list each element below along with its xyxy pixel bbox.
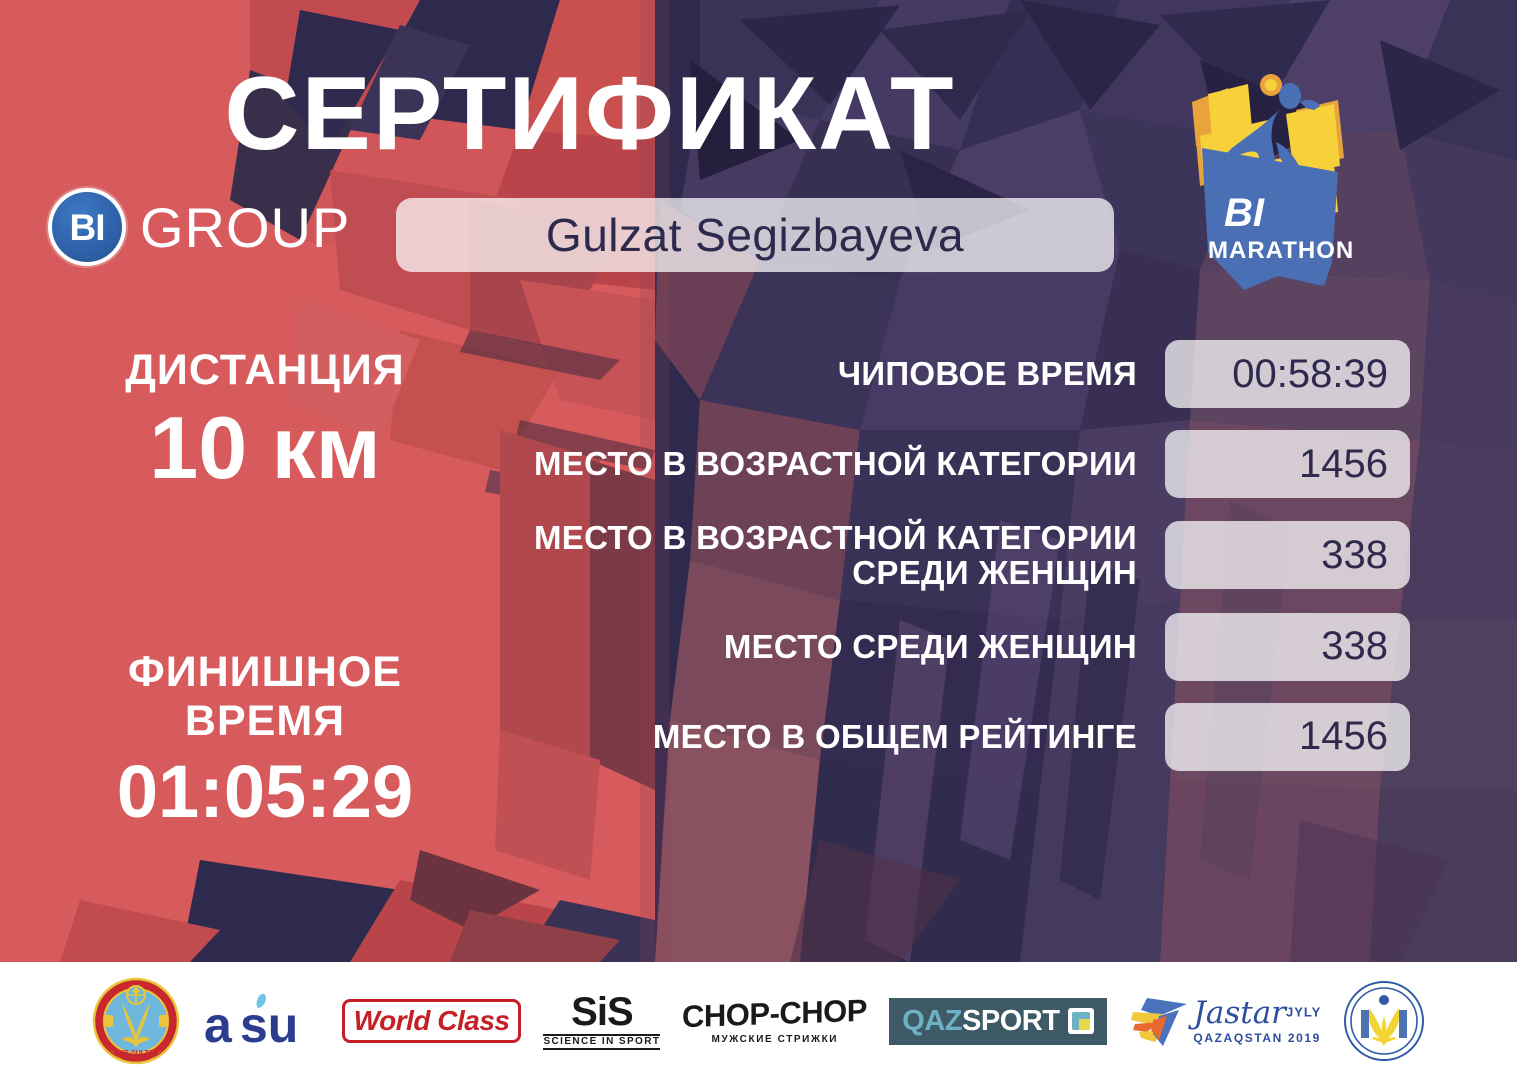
distance-block: ДИСТАНЦИЯ 10 км [30,346,500,498]
stat-row: МЕСТО В ВОЗРАСТНОЙ КАТЕГОРИИ СРЕДИ ЖЕНЩИ… [510,520,1410,591]
stat-row: МЕСТО В ВОЗРАСТНОЙ КАТЕГОРИИ 1456 [510,430,1410,498]
qazsport-square-icon [1068,1008,1094,1034]
participant-name: Gulzat Segizbayeva [546,208,964,262]
sis-sublabel: SCIENCE IN SPORT [543,1034,660,1050]
stat-value: 1456 [1165,430,1410,498]
world-class-logo: World Class [342,999,522,1043]
jastar-bird-icon [1129,990,1189,1052]
asu-logo: a su [202,990,320,1052]
svg-text:NUR-SULTAN: NUR-SULTAN [113,1050,158,1057]
jastar-sup: JYLY [1286,1005,1321,1020]
jastar-sublabel: QAZAQSTAN 2019 [1193,1032,1321,1044]
stat-label: МЕСТО СРЕДИ ЖЕНЩИН [525,629,1165,664]
chop-chop-label: CHOP-CHOP [682,994,867,1031]
svg-text:a: a [204,997,233,1052]
stat-row: МЕСТО СРЕДИ ЖЕНЩИН 338 [510,613,1410,681]
stat-value: 338 [1165,613,1410,681]
stat-row: ЧИПОВОЕ ВРЕМЯ 00:58:39 [510,340,1410,408]
qazsport-logo: QAZSPORT [889,998,1107,1045]
bi-badge-label: BI [70,209,105,246]
distance-label: ДИСТАНЦИЯ [30,346,500,395]
stats-list: ЧИПОВОЕ ВРЕМЯ 00:58:39 МЕСТО В ВОЗРАСТНО… [510,340,1410,793]
page-title: СЕРТИФИКАТ [0,62,1180,166]
sis-label: SiS [543,992,660,1032]
stat-row: МЕСТО В ОБЩЕМ РЕЙТИНГЕ 1456 [510,703,1410,771]
chop-chop-sublabel: МУЖСКИЕ СТРИЖКИ [682,1035,867,1045]
certificate-canvas: СЕРТИФИКАТ BI GROUP Gulzat Segizbayeva [0,0,1517,1080]
stat-value: 00:58:39 [1165,340,1410,408]
stat-label: МЕСТО В ВОЗРАСТНОЙ КАТЕГОРИИ СРЕДИ ЖЕНЩИ… [525,520,1165,591]
chop-chop-logo: CHOP-CHOP МУЖСКИЕ СТРИЖКИ [682,998,867,1045]
world-class-label: World Class [342,999,522,1043]
qazsport-label-qaz: QAZ [902,1005,962,1037]
stat-value: 338 [1165,521,1410,589]
bi-group-logo: BI GROUP [48,188,350,266]
finish-time-value: 01:05:29 [30,751,500,834]
sis-logo: SiS SCIENCE IN SPORT [543,992,660,1050]
svg-text:su: su [240,997,298,1052]
jastar-jyly-logo: JastarJYLY QAZAQSTAN 2019 [1129,990,1321,1052]
stat-label: МЕСТО В ВОЗРАСТНОЙ КАТЕГОРИИ [525,446,1165,481]
distance-value: 10 км [30,399,500,498]
ministry-emblem [1343,980,1425,1062]
finish-time-block: ФИНИШНОЕ ВРЕМЯ 01:05:29 [30,648,500,834]
sponsor-footer: NUR-SULTAN a su World Class SiS SCIENCE … [0,962,1517,1080]
nur-sultan-emblem: NUR-SULTAN [92,977,180,1065]
finish-label-line1: ФИНИШНОЕ [30,648,500,697]
participant-name-banner: Gulzat Segizbayeva [396,198,1114,272]
bi-group-word: GROUP [140,195,350,260]
stat-label: ЧИПОВОЕ ВРЕМЯ [525,356,1165,391]
finish-label-line2: ВРЕМЯ [30,697,500,746]
qazsport-label-sport: SPORT [962,1005,1059,1037]
stat-value: 1456 [1165,703,1410,771]
jastar-label: Jastar [1193,995,1286,1031]
marathon-logo-bi: BI [1224,191,1265,235]
marathon-logo-word: MARATHON [1208,237,1354,264]
bi-marathon-logo: BI MARATHON [1178,62,1378,302]
stat-label: МЕСТО В ОБЩЕМ РЕЙТИНГЕ [525,719,1165,754]
bi-badge-icon: BI [48,188,126,266]
